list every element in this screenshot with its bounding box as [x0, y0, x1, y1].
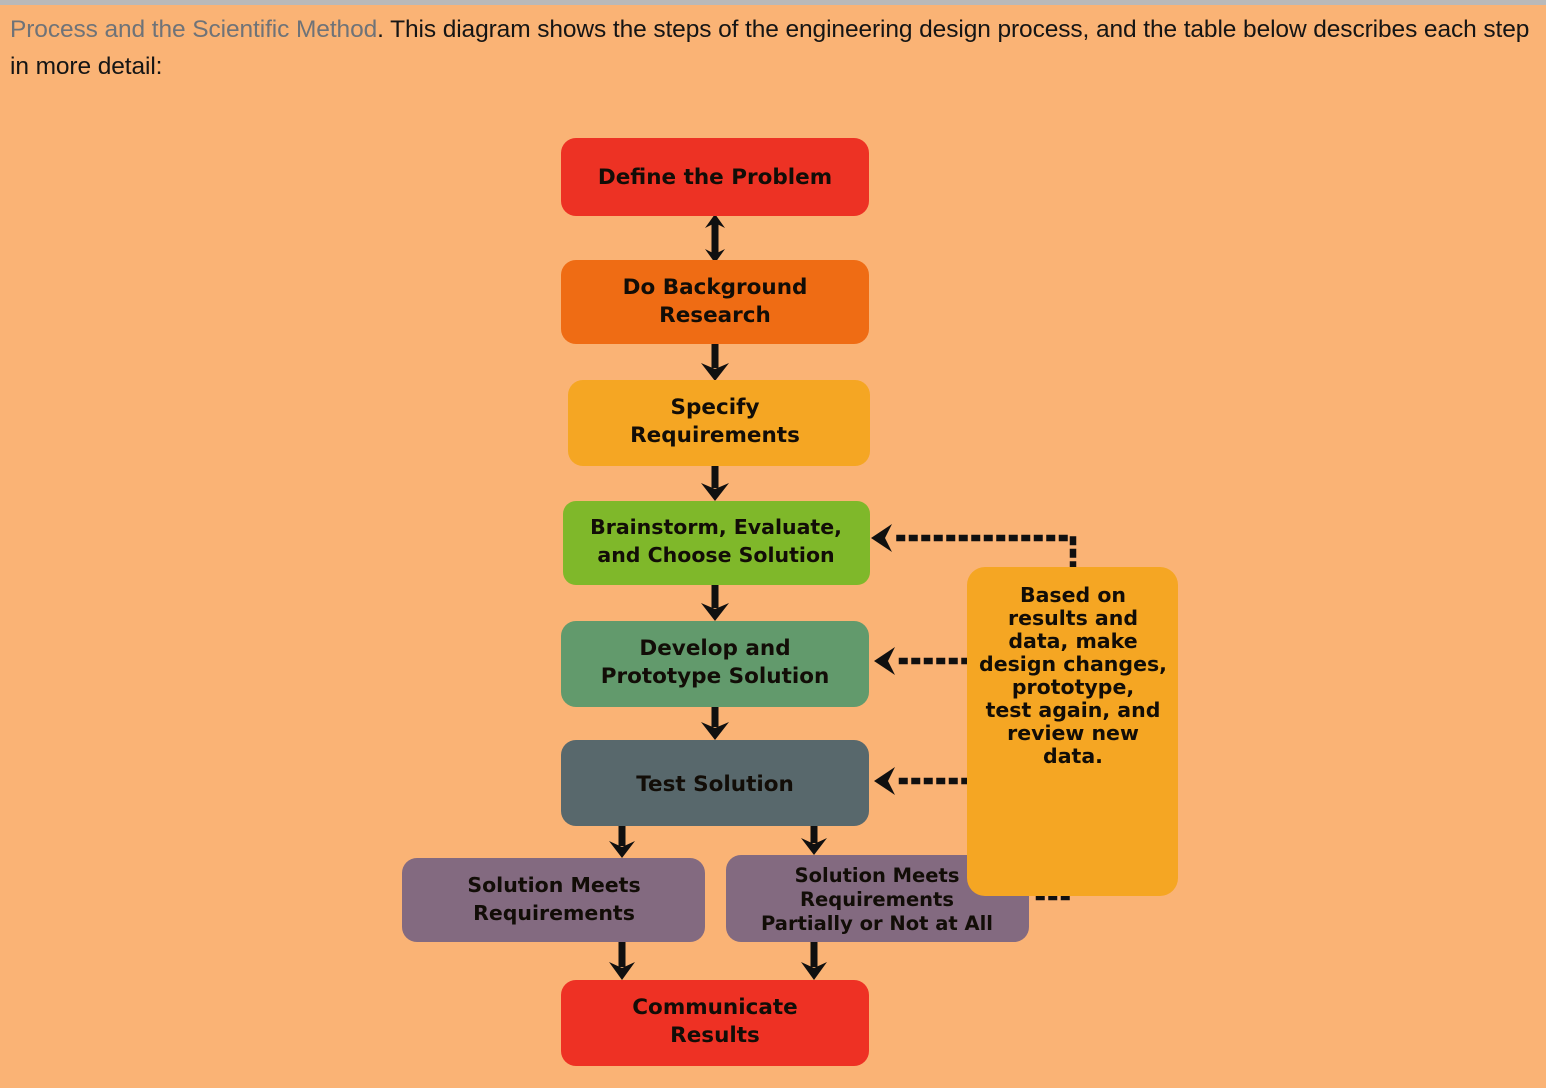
node-feedback-label-2: data, make: [1008, 629, 1137, 653]
node-requirements-label-0: Specify: [671, 395, 760, 420]
node-test-label-0: Test Solution: [636, 772, 794, 797]
node-partial-label-0: Solution Meets: [795, 864, 960, 887]
node-feedback-label-0: Based on: [1020, 583, 1126, 607]
edge-feedback-brainstorm: [871, 524, 1073, 567]
node-requirements-label-1: Requirements: [630, 423, 800, 448]
node-feedback-label-6: review new: [1007, 721, 1139, 745]
node-feedback-label-4: prototype,: [1012, 675, 1134, 699]
node-research-label-0: Do Background: [623, 275, 808, 300]
edge-feedback-develop: [874, 647, 967, 675]
node-communicate-label-0: Communicate: [632, 995, 797, 1020]
edge-meets-communicate: [609, 942, 635, 980]
node-define-the-problem[interactable]: Define the Problem: [561, 138, 869, 216]
edge-research-requirements: [701, 344, 729, 381]
node-define-label-0: Define the Problem: [598, 165, 832, 190]
node-develop-prototype-solution[interactable]: Develop and Prototype Solution: [561, 621, 869, 707]
flowchart-svg: Define the Problem Do Background Researc…: [0, 110, 1546, 1088]
node-feedback-label-7: data.: [1043, 744, 1103, 768]
engineering-design-process-diagram: Define the Problem Do Background Researc…: [0, 110, 1546, 1088]
edge-define-research: [705, 214, 725, 263]
edge-test-partial: [801, 826, 827, 855]
node-solution-meets-requirements[interactable]: Solution Meets Requirements: [402, 858, 705, 942]
node-feedback-label-5: test again, and: [986, 698, 1161, 722]
edge-test-meets: [609, 826, 635, 858]
node-partial-label-1: Requirements: [800, 888, 954, 911]
node-test-solution[interactable]: Test Solution: [561, 740, 869, 826]
edge-brainstorm-develop: [701, 585, 729, 621]
node-meets-label-1: Requirements: [473, 901, 635, 925]
node-communicate-label-1: Results: [670, 1023, 760, 1048]
node-brainstorm-evaluate-choose[interactable]: Brainstorm, Evaluate, and Choose Solutio…: [563, 501, 870, 585]
edge-requirements-brainstorm: [701, 466, 729, 501]
node-feedback-label-1: results and: [1008, 606, 1138, 630]
node-meets-label-0: Solution Meets: [467, 873, 640, 897]
node-research-label-1: Research: [659, 303, 771, 328]
node-feedback-design-changes[interactable]: Based on results and data, make design c…: [967, 567, 1178, 896]
page-root: Process and the Scientific Method. This …: [0, 0, 1546, 1088]
nodes-layer: Define the Problem Do Background Researc…: [402, 138, 1178, 1066]
node-partial-label-2: Partially or Not at All: [761, 912, 993, 935]
node-do-background-research[interactable]: Do Background Research: [561, 260, 869, 344]
intro-paragraph: Process and the Scientific Method. This …: [10, 11, 1540, 85]
node-communicate-results[interactable]: Communicate Results: [561, 980, 869, 1066]
edge-partial-communicate: [801, 942, 827, 980]
node-specify-requirements[interactable]: Specify Requirements: [568, 380, 870, 466]
node-develop-label-0: Develop and: [639, 636, 790, 661]
intro-link[interactable]: Process and the Scientific Method: [10, 16, 377, 43]
node-brainstorm-label-0: Brainstorm, Evaluate,: [590, 515, 842, 539]
edge-develop-test: [701, 707, 729, 740]
node-brainstorm-label-1: and Choose Solution: [597, 543, 834, 567]
edge-feedback-test: [874, 767, 967, 795]
node-feedback-label-3: design changes,: [979, 652, 1167, 676]
node-develop-label-1: Prototype Solution: [601, 664, 830, 689]
